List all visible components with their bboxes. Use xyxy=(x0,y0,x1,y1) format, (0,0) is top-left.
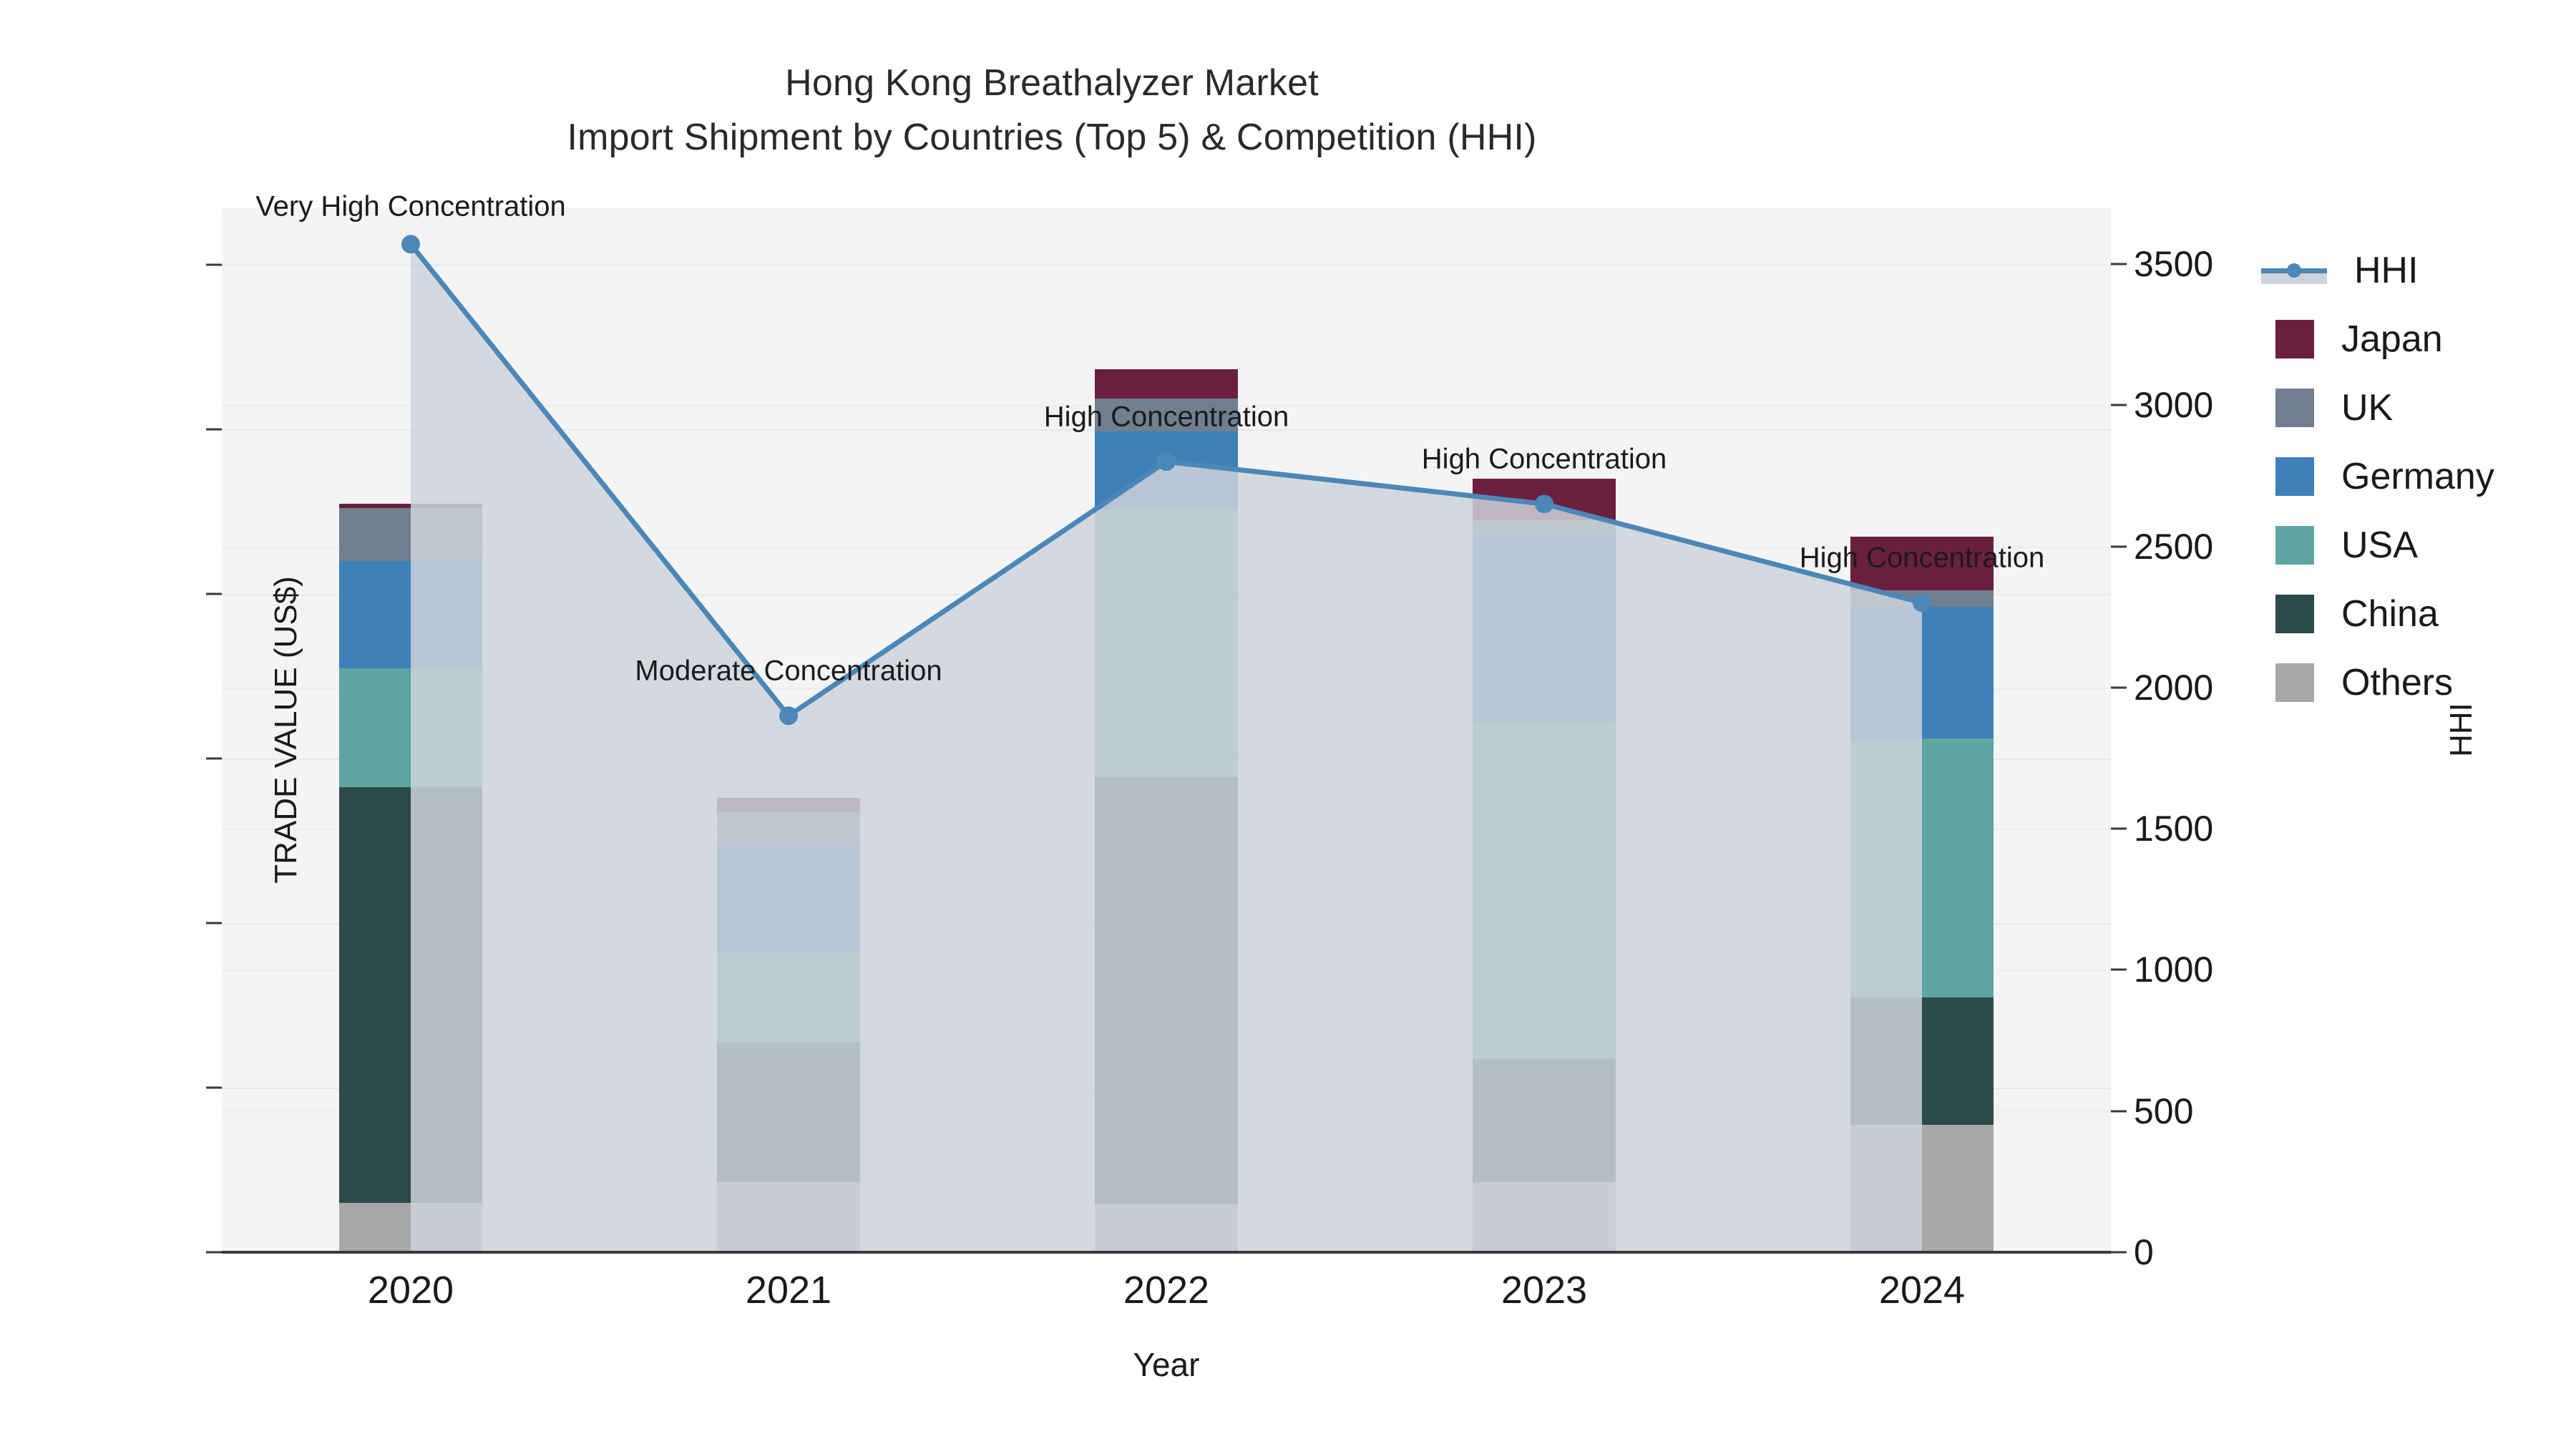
bar-segment[interactable] xyxy=(717,1182,860,1252)
concentration-annotation: High Concentration xyxy=(1422,444,1667,476)
y-tick-mark-right xyxy=(2111,1110,2127,1112)
x-axis-line xyxy=(222,1251,2111,1254)
legend: HHIJapanUKGermanyUSAChinaOthers xyxy=(2261,236,2576,717)
bar-segment[interactable] xyxy=(1850,590,1994,607)
bar-group[interactable] xyxy=(1095,369,1238,1252)
y-tick-mark-right xyxy=(2111,1252,2127,1254)
bar-segment[interactable] xyxy=(339,508,482,562)
bar-group[interactable] xyxy=(1473,479,1616,1252)
bar-segment[interactable] xyxy=(717,845,860,952)
bar-group[interactable] xyxy=(717,798,860,1252)
chart-title-block: Hong Kong Breathalyzer Market Import Shi… xyxy=(0,56,2104,165)
bar-segment[interactable] xyxy=(339,504,482,508)
legend-item-usa[interactable]: USA xyxy=(2261,511,2576,580)
y-tick-mark-left xyxy=(206,264,222,266)
x-tick-label: 2020 xyxy=(268,1268,554,1312)
legend-color-swatch xyxy=(2275,320,2314,358)
bar-segment[interactable] xyxy=(339,1203,482,1252)
y-tick-mark-right xyxy=(2111,969,2127,971)
legend-item-uk[interactable]: UK xyxy=(2261,374,2576,442)
bar-segment[interactable] xyxy=(717,798,860,812)
legend-color-swatch xyxy=(2275,663,2314,702)
y-tick-mark-right xyxy=(2111,404,2127,406)
x-tick-label: 2024 xyxy=(1779,1268,2065,1312)
hhi-marker[interactable] xyxy=(779,706,798,725)
bar-segment[interactable] xyxy=(717,812,860,845)
legend-label: HHI xyxy=(2354,252,2419,289)
legend-label: Others xyxy=(2341,664,2453,701)
bar-segment[interactable] xyxy=(1095,509,1238,777)
legend-label: Germany xyxy=(2341,458,2494,495)
legend-item-china[interactable]: China xyxy=(2261,580,2576,648)
legend-item-japan[interactable]: Japan xyxy=(2261,305,2576,374)
bar-segment[interactable] xyxy=(1473,520,1616,537)
bar-segment[interactable] xyxy=(717,952,860,1042)
hhi-marker[interactable] xyxy=(401,235,420,253)
y-tick-mark-left xyxy=(206,1252,222,1254)
bar-segment[interactable] xyxy=(1473,537,1616,722)
chart-subtitle: Import Shipment by Countries (Top 5) & C… xyxy=(0,110,2104,165)
page-title: Hong Kong Breathalyzer Market xyxy=(0,56,2104,110)
legend-label: China xyxy=(2341,595,2439,633)
bar-segment[interactable] xyxy=(1850,997,1994,1125)
bar-segment[interactable] xyxy=(339,561,482,668)
legend-label: Japan xyxy=(2341,321,2443,358)
y-tick-mark-left xyxy=(206,1087,222,1089)
y-tick-label-right: 1500 xyxy=(2134,808,2320,849)
y-tick-mark-right xyxy=(2111,263,2127,265)
legend-line-icon xyxy=(2261,251,2327,290)
legend-item-germany[interactable]: Germany xyxy=(2261,442,2576,511)
x-tick-label: 2021 xyxy=(645,1268,932,1312)
y-tick-mark-right xyxy=(2111,686,2127,688)
bar-segment[interactable] xyxy=(1095,777,1238,1205)
bar-group[interactable] xyxy=(339,504,482,1252)
legend-item-others[interactable]: Others xyxy=(2261,648,2576,717)
y-tick-mark-left xyxy=(206,429,222,431)
bar-segment[interactable] xyxy=(1095,1204,1238,1252)
gridline xyxy=(222,264,2111,265)
bar-segment[interactable] xyxy=(1095,431,1238,509)
legend-color-swatch xyxy=(2275,457,2314,496)
y-tick-mark-right xyxy=(2111,828,2127,830)
bar-segment[interactable] xyxy=(339,787,482,1203)
bar-group[interactable] xyxy=(1850,537,1994,1252)
bar-segment[interactable] xyxy=(1850,607,1994,738)
legend-color-swatch xyxy=(2275,389,2314,427)
y-tick-label-right: 1000 xyxy=(2134,949,2320,990)
bar-segment[interactable] xyxy=(717,1043,860,1182)
bar-segment[interactable] xyxy=(1095,369,1238,398)
legend-item-hhi[interactable]: HHI xyxy=(2261,236,2576,305)
legend-label: USA xyxy=(2341,527,2418,564)
bar-segment[interactable] xyxy=(1473,722,1616,1059)
concentration-annotation: Very High Concentration xyxy=(255,191,566,223)
y-tick-label-right: 0 xyxy=(2134,1231,2320,1273)
legend-color-swatch xyxy=(2275,595,2314,633)
plot-area: Very High ConcentrationModerate Concentr… xyxy=(222,208,2111,1252)
y-tick-mark-right xyxy=(2111,545,2127,547)
bar-segment[interactable] xyxy=(1850,738,1994,997)
legend-label: UK xyxy=(2341,389,2393,426)
bar-segment[interactable] xyxy=(1850,1125,1994,1252)
concentration-annotation: High Concentration xyxy=(1800,542,2044,575)
x-tick-label: 2023 xyxy=(1401,1268,1687,1312)
bar-segment[interactable] xyxy=(1473,1182,1616,1252)
chart-root: Hong Kong Breathalyzer Market Import Shi… xyxy=(0,0,2576,1449)
x-tick-label: 2022 xyxy=(1023,1268,1309,1312)
x-axis-label: Year xyxy=(222,1345,2111,1384)
bar-segment[interactable] xyxy=(1473,1059,1616,1182)
y-tick-mark-left xyxy=(206,593,222,595)
concentration-annotation: High Concentration xyxy=(1044,401,1289,434)
concentration-annotation: Moderate Concentration xyxy=(635,655,942,688)
bar-segment[interactable] xyxy=(339,668,482,788)
y-axis-label-left: TRADE VALUE (US$) xyxy=(268,479,304,980)
y-tick-mark-left xyxy=(206,758,222,760)
legend-color-swatch xyxy=(2275,526,2314,565)
legend-line-dot xyxy=(2287,263,2301,278)
y-tick-label-right: 500 xyxy=(2134,1091,2320,1132)
bar-segment[interactable] xyxy=(1473,479,1616,519)
y-tick-mark-left xyxy=(206,922,222,924)
